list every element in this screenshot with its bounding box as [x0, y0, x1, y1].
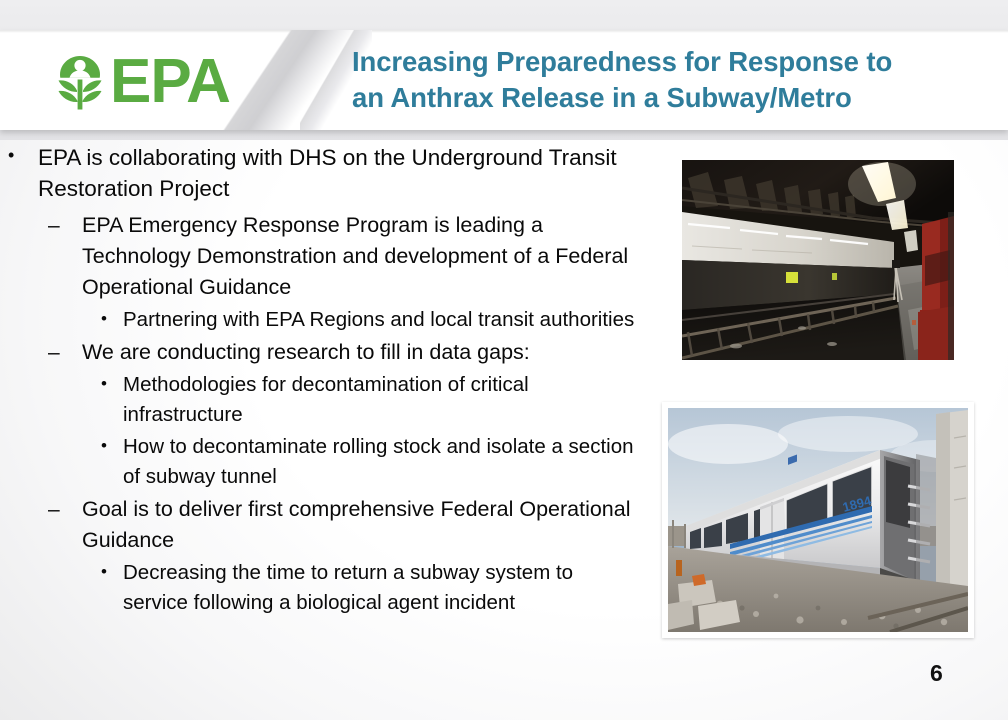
subway-tunnel-illustration [682, 160, 954, 360]
bullet-text: How to decontaminate rolling stock and i… [123, 432, 643, 492]
page-title: Increasing Preparedness for Response to … [352, 44, 992, 116]
rail-car-photo: 1894 [668, 408, 968, 632]
bullet-text: EPA Emergency Response Program is leadin… [82, 210, 642, 303]
bullet-level3: • How to decontaminate rolling stock and… [0, 432, 672, 492]
bullet-text: Methodologies for decontamination of cri… [123, 370, 643, 430]
epa-seal-icon [52, 52, 108, 112]
body-content: • EPA is collaborating with DHS on the U… [0, 142, 672, 720]
bullet-level2: – Goal is to deliver first comprehensive… [0, 494, 672, 556]
bullet-text: Goal is to deliver first comprehensive F… [82, 494, 642, 556]
bullet-marker-dash: – [48, 337, 60, 368]
bullet-text: We are conducting research to fill in da… [82, 337, 642, 368]
page-number: 6 [930, 660, 970, 687]
bullet-marker-dot: • [101, 304, 107, 334]
bullet-text: EPA is collaborating with DHS on the Und… [38, 142, 618, 204]
bullet-marker-dash: – [48, 210, 60, 241]
bullet-level3: • Methodologies for decontamination of c… [0, 370, 672, 430]
banner-top-shadow [0, 30, 1008, 33]
bullet-marker-dash: – [48, 494, 60, 525]
bullet-marker-dot: • [101, 557, 107, 587]
bullet-marker-dot: • [101, 431, 107, 461]
bullet-text: Partnering with EPA Regions and local tr… [123, 305, 643, 335]
epa-wordmark: EPA [110, 51, 230, 113]
bullet-level2: – We are conducting research to fill in … [0, 337, 672, 368]
bullet-text: Decreasing the time to return a subway s… [123, 558, 643, 618]
bullet-level1: • EPA is collaborating with DHS on the U… [0, 142, 672, 204]
epa-logo: EPA [52, 48, 252, 116]
page-title-line-1: Increasing Preparedness for Response to [352, 44, 992, 80]
page-title-line-2: an Anthrax Release in a Subway/Metro [352, 80, 992, 116]
subway-tunnel-photo [682, 160, 954, 360]
bullet-marker-dot: • [8, 140, 14, 171]
bullet-marker-dot: • [101, 369, 107, 399]
slide: EPA Increasing Preparedness for Response… [0, 0, 1008, 720]
rail-car-illustration: 1894 [668, 408, 968, 632]
bullet-level3: • Decreasing the time to return a subway… [0, 558, 672, 618]
bullet-level3: • Partnering with EPA Regions and local … [0, 305, 672, 335]
bullet-level2: – EPA Emergency Response Program is lead… [0, 210, 672, 303]
